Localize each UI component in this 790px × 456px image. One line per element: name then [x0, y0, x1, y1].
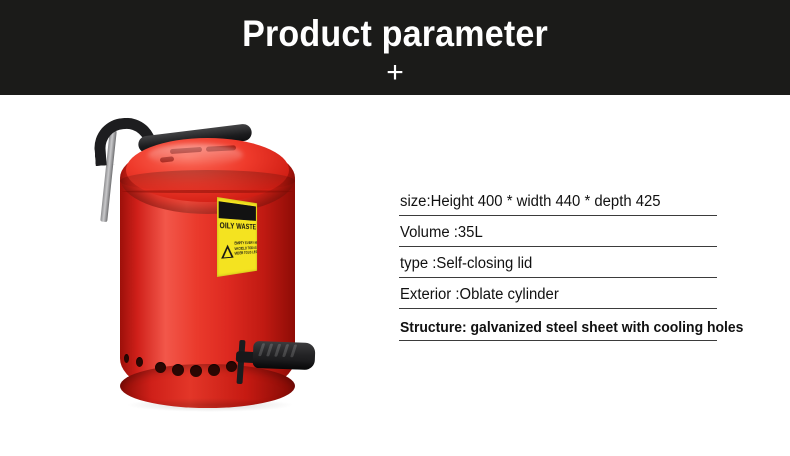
cooling-hole — [226, 361, 237, 372]
spec-row-text: Exterior :Oblate cylinder — [400, 286, 559, 304]
spec-row-text: Structure: galvanized steel sheet with c… — [400, 319, 743, 336]
lid-highlight — [148, 144, 243, 166]
label-title: OILY WASTE CAN — [220, 221, 258, 231]
cooling-hole — [124, 354, 129, 363]
cooling-hole — [208, 364, 220, 376]
pedal-rib — [266, 344, 273, 357]
product-image: OILY WASTE CAN EMPTY EVERY NIGHT VACIELO… — [78, 112, 328, 407]
cooling-holes — [124, 350, 244, 384]
page-title: Product parameter — [32, 12, 759, 56]
spec-row-text: size:Height 400 * width 440 * depth 425 — [400, 193, 661, 211]
warning-label: OILY WASTE CAN EMPTY EVERY NIGHT VACIELO… — [217, 197, 257, 277]
spec-row-structure: Structure: galvanized steel sheet with c… — [399, 309, 717, 341]
ground-shadow — [126, 398, 294, 412]
plus-icon: + — [0, 58, 790, 88]
pedal-rib — [258, 343, 265, 356]
label-warning-line: VIDER TOUS LES SOIRS — [234, 250, 255, 256]
spec-row-type: type :Self-closing lid — [399, 247, 717, 278]
product-parameter-page: Product parameter + OILY WASTE CAN — [0, 0, 790, 456]
spec-row-exterior: Exterior :Oblate cylinder — [399, 278, 717, 309]
label-black-bar — [219, 201, 256, 221]
spec-row-volume: Volume :35L — [399, 216, 717, 247]
pedal-rib — [282, 344, 289, 357]
body-seam — [122, 190, 293, 193]
pedal-rib — [290, 344, 297, 357]
body-rim-shadow — [120, 170, 295, 192]
label-warning-text: EMPTY EVERY NIGHT VACIELO TODAS LAS NOCH… — [234, 240, 255, 256]
spec-row-size: size:Height 400 * width 440 * depth 425 — [399, 185, 717, 216]
cooling-hole — [136, 357, 143, 367]
cooling-hole — [190, 365, 202, 377]
spec-row-text: type :Self-closing lid — [400, 255, 532, 273]
pedal-rib — [274, 344, 281, 357]
cooling-hole — [172, 364, 184, 376]
spec-table: size:Height 400 * width 440 * depth 425 … — [399, 185, 717, 341]
hazard-triangle-icon — [221, 244, 233, 258]
cooling-hole — [155, 362, 166, 373]
spec-row-text: Volume :35L — [400, 224, 483, 242]
header-banner: Product parameter + — [0, 0, 790, 95]
foot-pedal — [253, 341, 316, 370]
